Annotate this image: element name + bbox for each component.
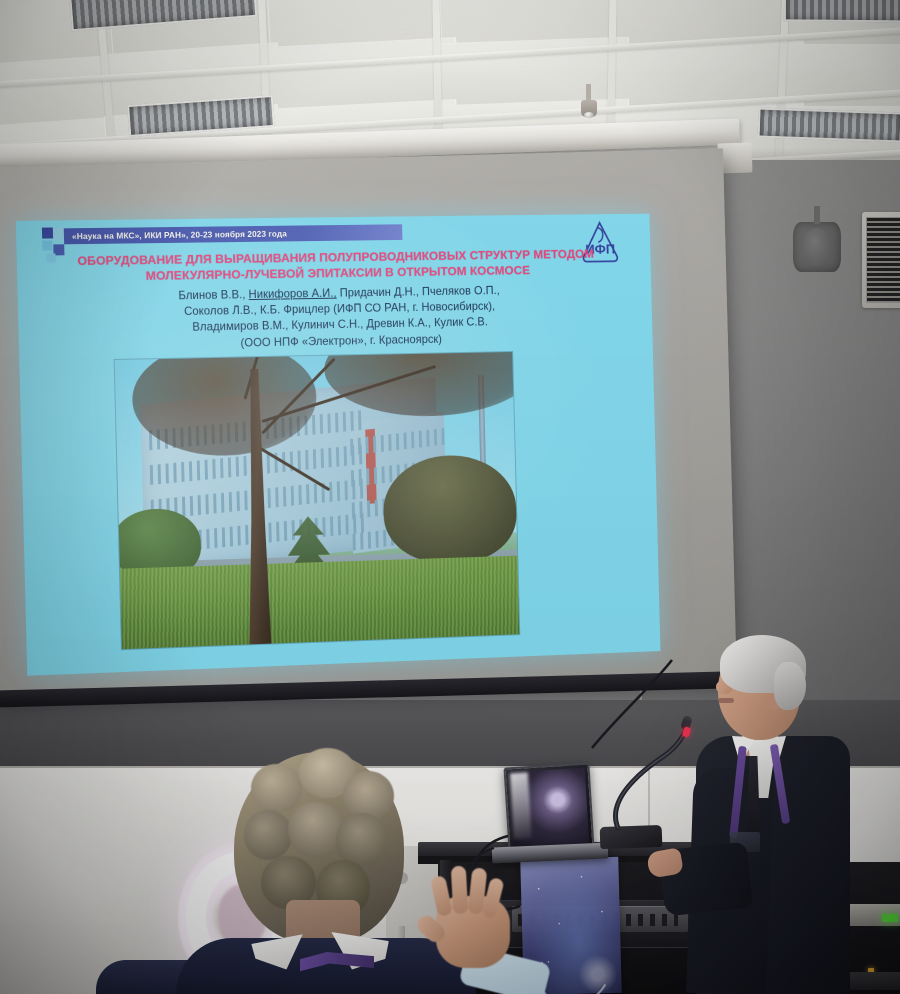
- presenter: [690, 636, 850, 994]
- rack-status-led-green: [882, 914, 898, 922]
- raised-hand: [418, 862, 522, 974]
- conference-photo-scene: «Наука на МКС», ИКИ РАН», 20-23 ноября 2…: [0, 0, 900, 994]
- rack-device: [846, 972, 900, 990]
